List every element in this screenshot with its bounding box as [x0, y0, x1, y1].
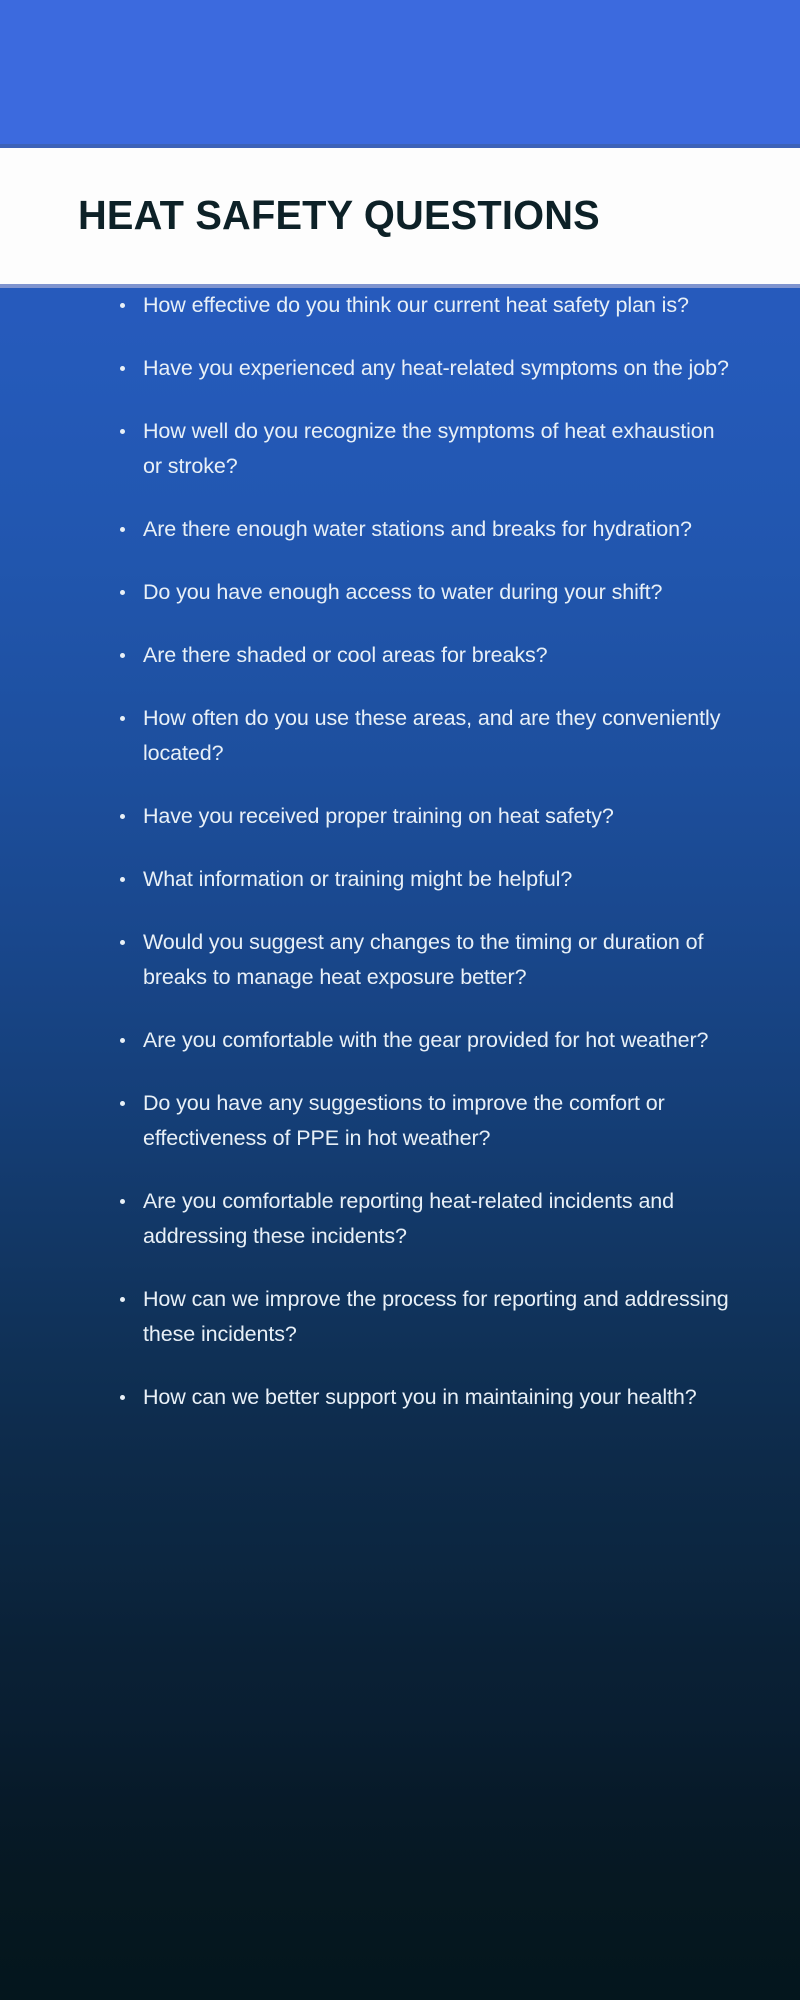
bullet-icon — [120, 1395, 125, 1400]
question-text: How can we improve the process for repor… — [143, 1282, 730, 1352]
bullet-icon — [120, 877, 125, 882]
bullet-icon — [120, 814, 125, 819]
question-text: Have you experienced any heat-related sy… — [143, 351, 730, 386]
question-text: How well do you recognize the symptoms o… — [143, 414, 730, 484]
list-item: Are you comfortable with the gear provid… — [0, 1023, 800, 1058]
bullet-icon — [120, 1038, 125, 1043]
list-item: Have you received proper training on hea… — [0, 799, 800, 834]
page-title: HEAT SAFETY QUESTIONS — [78, 146, 718, 284]
bullet-icon — [120, 1199, 125, 1204]
poster-canvas: HEAT SAFETY QUESTIONS How effective do y… — [0, 0, 800, 2000]
list-item: Are you comfortable reporting heat-relat… — [0, 1184, 800, 1254]
list-item: Are there enough water stations and brea… — [0, 512, 800, 547]
list-item: Are there shaded or cool areas for break… — [0, 638, 800, 673]
list-item: How often do you use these areas, and ar… — [0, 701, 800, 771]
list-item: How can we better support you in maintai… — [0, 1380, 800, 1415]
list-item: Would you suggest any changes to the tim… — [0, 925, 800, 995]
question-text: Are there shaded or cool areas for break… — [143, 638, 730, 673]
list-item: Do you have enough access to water durin… — [0, 575, 800, 610]
bullet-icon — [120, 527, 125, 532]
bullet-icon — [120, 653, 125, 658]
bullet-icon — [120, 303, 125, 308]
question-list: How effective do you think our current h… — [0, 288, 800, 1443]
list-item: How effective do you think our current h… — [0, 288, 800, 323]
bullet-icon — [120, 716, 125, 721]
bullet-icon — [120, 940, 125, 945]
list-item: How can we improve the process for repor… — [0, 1282, 800, 1352]
bullet-icon — [120, 590, 125, 595]
question-text: Do you have enough access to water durin… — [143, 575, 730, 610]
question-text: Are there enough water stations and brea… — [143, 512, 730, 547]
question-text: Are you comfortable reporting heat-relat… — [143, 1184, 730, 1254]
list-item: How well do you recognize the symptoms o… — [0, 414, 800, 484]
question-text: Do you have any suggestions to improve t… — [143, 1086, 730, 1156]
bullet-icon — [120, 366, 125, 371]
list-item: Have you experienced any heat-related sy… — [0, 351, 800, 386]
question-text: Are you comfortable with the gear provid… — [143, 1023, 730, 1058]
question-text: How can we better support you in maintai… — [143, 1380, 730, 1415]
bullet-icon — [120, 1101, 125, 1106]
list-item: What information or training might be he… — [0, 862, 800, 897]
bullet-icon — [120, 429, 125, 434]
list-item: Do you have any suggestions to improve t… — [0, 1086, 800, 1156]
bullet-icon — [120, 1297, 125, 1302]
top-accent-band — [0, 0, 800, 144]
question-text: Have you received proper training on hea… — [143, 799, 730, 834]
question-text: How effective do you think our current h… — [143, 288, 730, 323]
question-text: Would you suggest any changes to the tim… — [143, 925, 730, 995]
question-text: What information or training might be he… — [143, 862, 730, 897]
question-text: How often do you use these areas, and ar… — [143, 701, 730, 771]
